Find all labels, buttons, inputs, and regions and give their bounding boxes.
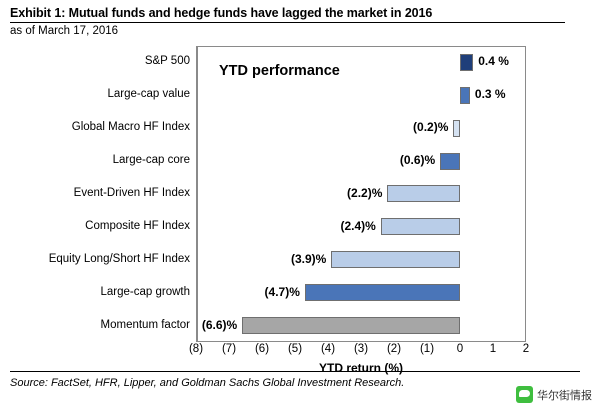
x-tick-label: (8): [189, 343, 203, 355]
value-label: (0.6)%: [10, 153, 435, 167]
bar: [381, 218, 460, 235]
bar: [460, 54, 473, 71]
bar: [387, 185, 460, 202]
value-label: (0.2)%: [10, 120, 448, 134]
footer-divider: [10, 371, 580, 372]
bar-row: S&P 5000.4 %: [10, 46, 590, 79]
watermark-label: 华尔街情报: [537, 387, 592, 403]
bar-row: Composite HF Index(2.4)%: [10, 210, 590, 243]
bar-row: Large-cap core(0.6)%: [10, 145, 590, 178]
bar-row: Momentum factor(6.6)%: [10, 309, 590, 342]
watermark-badge: 华尔街情报: [516, 386, 592, 403]
x-tick-label: (5): [288, 343, 302, 355]
bar-row: Global Macro HF Index(0.2)%: [10, 112, 590, 145]
bar: [331, 251, 460, 268]
bar: [460, 87, 470, 104]
value-label: (2.4)%: [10, 219, 376, 233]
x-tick-label: 1: [490, 343, 496, 355]
bar-row: Large-cap value0.3 %: [10, 79, 590, 112]
bar-rows: S&P 5000.4 %Large-cap value0.3 %Global M…: [10, 46, 590, 342]
chart-page: Exhibit 1: Mutual funds and hedge funds …: [0, 0, 600, 414]
title-divider: [10, 22, 565, 23]
x-tick-label: 2: [523, 343, 529, 355]
x-tick-label: (6): [255, 343, 269, 355]
wechat-icon: [516, 386, 533, 403]
source-note: Source: FactSet, HFR, Lipper, and Goldma…: [10, 377, 404, 389]
bar: [242, 317, 460, 334]
value-label: (2.2)%: [10, 186, 382, 200]
x-tick-label: 0: [457, 343, 463, 355]
value-label: (3.9)%: [10, 252, 326, 266]
header: Exhibit 1: Mutual funds and hedge funds …: [10, 6, 590, 37]
value-label: (6.6)%: [10, 318, 237, 332]
as-of-date: as of March 17, 2016: [10, 25, 590, 37]
bar-row: Equity Long/Short HF Index(3.9)%: [10, 243, 590, 276]
x-axis-title: YTD return (%): [196, 361, 526, 375]
bar: [440, 153, 460, 170]
category-label: Large-cap value: [10, 88, 190, 100]
bar-row: Large-cap growth(4.7)%: [10, 276, 590, 309]
category-label: S&P 500: [10, 55, 190, 67]
page-title: Exhibit 1: Mutual funds and hedge funds …: [10, 6, 590, 20]
bar-row: Event-Driven HF Index(2.2)%: [10, 178, 590, 211]
bar: [453, 120, 460, 137]
x-tick-label: (2): [387, 343, 401, 355]
x-tick-label: (1): [420, 343, 434, 355]
x-tick-label: (4): [321, 343, 335, 355]
x-tick-label: (3): [354, 343, 368, 355]
x-axis-ticks: (8)(7)(6)(5)(4)(3)(2)(1)012: [196, 343, 526, 361]
bar: [305, 284, 460, 301]
value-label: (4.7)%: [10, 285, 300, 299]
chart-area: YTD performance S&P 5000.4 %Large-cap va…: [10, 46, 590, 364]
x-tick-label: (7): [222, 343, 236, 355]
value-label: 0.4 %: [478, 54, 509, 68]
value-label: 0.3 %: [475, 87, 506, 101]
